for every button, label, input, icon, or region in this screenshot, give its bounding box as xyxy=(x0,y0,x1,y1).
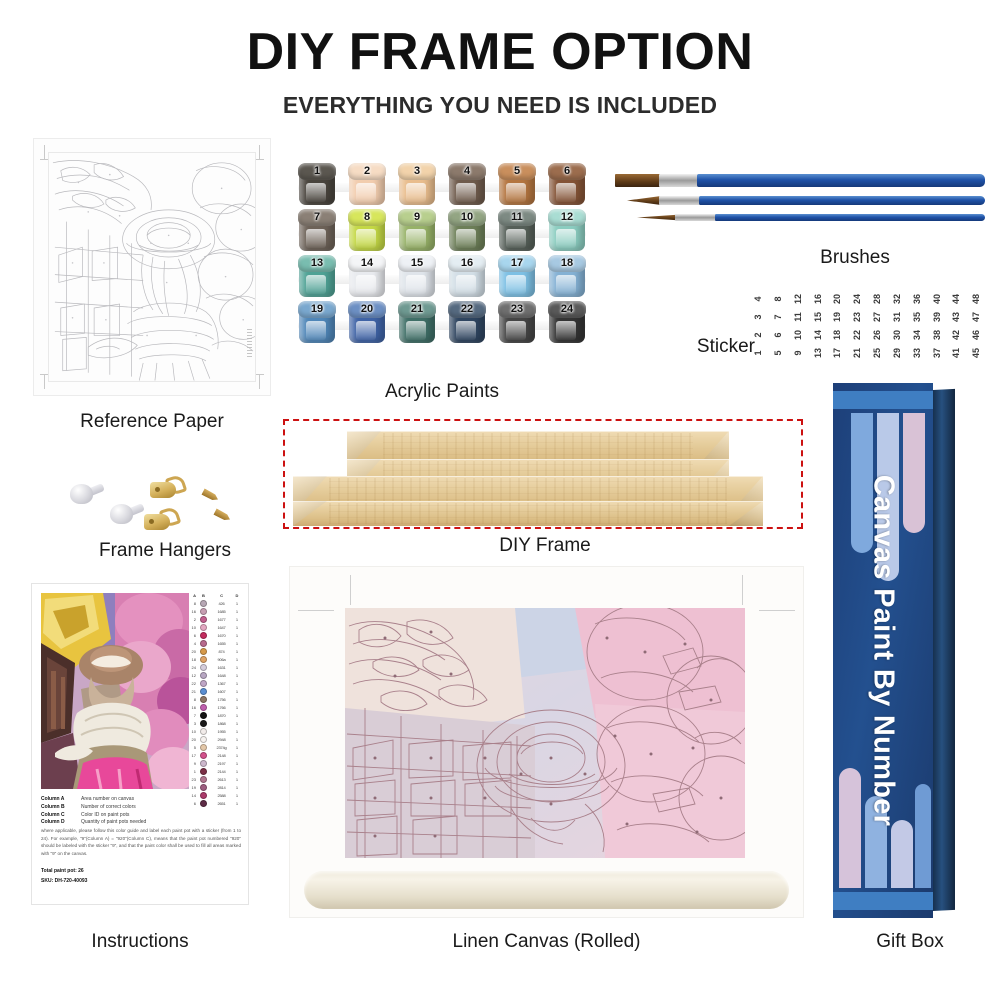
sticker-number-11: 11 xyxy=(789,307,807,327)
sticker-number-grid: 4812162024283236404448371115192327313539… xyxy=(748,290,986,362)
sticker-number-29: 29 xyxy=(888,343,906,363)
paint-pot-row: 131415161718 xyxy=(292,255,592,301)
legend-row: 121441 xyxy=(188,767,241,775)
paint-pot-gloss xyxy=(306,321,326,340)
instructions-footer: Total paint pot: 26 SKU: DH-720-40093 xyxy=(41,867,87,886)
paint-pot-22: 22 xyxy=(447,301,487,345)
frame-hangers-item xyxy=(62,470,277,540)
legend-area-number: 8 xyxy=(188,697,197,702)
legend-row: 1928141 xyxy=(188,783,241,791)
page-title: DIY FRAME OPTION xyxy=(0,26,1000,78)
paint-pot-gloss xyxy=(406,321,426,340)
legend-color-swatch xyxy=(197,736,210,743)
instruction-column-text: Quantity of paint pots needed xyxy=(81,819,146,827)
instructions-note: where applicable, please follow this col… xyxy=(41,827,241,857)
sticker-number-8: 8 xyxy=(769,289,787,309)
paint-pot-gloss xyxy=(356,183,376,202)
total-paint-pot: Total paint pot: 26 xyxy=(41,867,87,877)
paint-pot-rail xyxy=(298,229,586,238)
sticker-number-14: 14 xyxy=(808,325,826,345)
legend-color-swatch xyxy=(197,632,210,639)
legend-area-number: 1 xyxy=(188,769,197,774)
gift-box-item: Canvas Paint By Number xyxy=(833,383,955,918)
sticker-number-36: 36 xyxy=(908,289,926,309)
paint-pot-gloss xyxy=(456,275,476,294)
paint-pot-8: 8 xyxy=(347,209,387,253)
sticker-number-25: 25 xyxy=(868,343,886,363)
legend-quantity: 1 xyxy=(233,641,241,646)
legend-quantity: 1 xyxy=(233,721,241,726)
sticker-number-40: 40 xyxy=(927,289,945,309)
paint-pot-number: 15 xyxy=(397,255,437,272)
legend-area-number: 8 xyxy=(188,601,197,606)
sticker-number-45: 45 xyxy=(967,343,985,363)
paint-pot-number: 16 xyxy=(447,255,487,272)
legend-area-number: 22 xyxy=(188,681,197,686)
legend-color-code: 1685 xyxy=(210,609,233,614)
sticker-number-32: 32 xyxy=(888,289,906,309)
legend-row: 1721481 xyxy=(188,751,241,759)
legend-row: 2416311 xyxy=(188,663,241,671)
legend-row: 817561 xyxy=(188,695,241,703)
paint-pot-24: 24 xyxy=(547,301,587,345)
sticker-number-23: 23 xyxy=(848,307,866,327)
legend-row: 921971 xyxy=(188,759,241,767)
brush-flat xyxy=(615,174,985,187)
paint-pot-row: 789101112 xyxy=(292,209,592,255)
legend-color-code: 1870 xyxy=(210,713,233,718)
legend-color-swatch xyxy=(197,688,210,695)
legend-row: 1019551 xyxy=(188,727,241,735)
paint-pot-rail xyxy=(298,275,586,284)
legend-color-code: 2148 xyxy=(210,753,233,758)
paint-pot-row: 192021222324 xyxy=(292,301,592,347)
sticker-number-18: 18 xyxy=(828,325,846,345)
legend-quantity: 1 xyxy=(233,601,241,606)
paint-pot-number: 22 xyxy=(447,301,487,318)
legend-color-swatch xyxy=(197,744,210,751)
legend-area-number: 4 xyxy=(188,641,197,646)
legend-quantity: 1 xyxy=(233,769,241,774)
brushes-item xyxy=(615,170,985,240)
paint-pot-9: 9 xyxy=(397,209,437,253)
paint-pot-gloss xyxy=(306,275,326,294)
legend-color-code: 1367 xyxy=(210,681,233,686)
instruction-column-label: Column D xyxy=(41,819,81,827)
instruction-column-text: Area number on canvas xyxy=(81,796,134,804)
gift-box-label: Canvas Paint By Number xyxy=(833,383,933,918)
sticker-number-38: 38 xyxy=(927,325,945,345)
legend-quantity: 1 xyxy=(233,705,241,710)
paint-pot-gloss xyxy=(506,229,526,248)
sticker-number-26: 26 xyxy=(868,325,886,345)
caption-sticker: Sticker xyxy=(660,337,755,358)
paint-pot-5: 5 xyxy=(497,163,537,207)
legend-color-code: 1655 xyxy=(210,641,233,646)
page-subtitle: EVERYTHING YOU NEED IS INCLUDED xyxy=(0,92,1000,119)
legend-row: 1016471 xyxy=(188,623,241,631)
legend-color-code: 906a xyxy=(210,657,233,662)
legend-header-b: B xyxy=(197,593,210,598)
legend-area-number: 7 xyxy=(188,713,197,718)
legend-area-number: 16 xyxy=(188,705,197,710)
sticker-number-4: 4 xyxy=(749,289,767,309)
legend-header-d: D xyxy=(233,593,241,598)
legend-header-c: C xyxy=(210,593,233,598)
sticker-number-12: 12 xyxy=(789,289,807,309)
legend-row: 2116071 xyxy=(188,687,241,695)
legend-color-swatch xyxy=(197,768,210,775)
legend-row: 18906a1 xyxy=(188,655,241,663)
legend-color-swatch xyxy=(197,640,210,647)
sticker-sheet-item: 4812162024283236404448371115192327313539… xyxy=(748,290,986,362)
sticker-number-34: 34 xyxy=(908,325,926,345)
legend-color-code: 1766 xyxy=(210,705,233,710)
paint-pot-gloss xyxy=(356,229,376,248)
legend-color-code: 1648 xyxy=(210,673,233,678)
legend-quantity: 1 xyxy=(233,649,241,654)
paint-pot-gloss xyxy=(406,183,426,202)
legend-color-code: 1955 xyxy=(210,729,233,734)
sticker-number-39: 39 xyxy=(927,307,945,327)
instruction-column-label: Column C xyxy=(41,812,81,820)
legend-color-code: 2814 xyxy=(210,785,233,790)
legend-color-code: 1868 xyxy=(210,721,233,726)
paint-pot-number: 3 xyxy=(397,163,437,180)
paint-pot-12: 12 xyxy=(547,209,587,253)
legend-color-code: 2948 xyxy=(210,737,233,742)
paint-pot-gloss xyxy=(306,183,326,202)
legend-area-number: 3 xyxy=(188,721,197,726)
paint-pot-row: 123456 xyxy=(292,163,592,209)
legend-color-code: 2144 xyxy=(210,769,233,774)
paint-pot-gloss xyxy=(356,321,376,340)
legend-area-number: 16 xyxy=(188,609,197,614)
paint-pot-rail xyxy=(298,183,586,192)
paint-pot-4: 4 xyxy=(447,163,487,207)
legend-color-swatch xyxy=(197,720,210,727)
legend-quantity: 1 xyxy=(233,673,241,678)
legend-area-number: 19 xyxy=(188,785,197,790)
instruction-column-line: Column DQuantity of paint pots needed xyxy=(41,819,241,827)
legend-row: 2029481 xyxy=(188,735,241,743)
legend-area-number: 12 xyxy=(188,673,197,678)
paint-pot-7: 7 xyxy=(297,209,337,253)
sticker-number-6: 6 xyxy=(769,325,787,345)
legend-quantity: 1 xyxy=(233,609,241,614)
sticker-number-42: 42 xyxy=(947,325,965,345)
legend-quantity: 1 xyxy=(233,713,241,718)
sticker-number-9: 9 xyxy=(789,343,807,363)
sticker-number-33: 33 xyxy=(908,343,926,363)
sticker-number-30: 30 xyxy=(888,325,906,345)
paint-pot-number: 8 xyxy=(347,209,387,226)
legend-color-code: 1670 xyxy=(210,633,233,638)
legend-quantity: 1 xyxy=(233,737,241,742)
paint-pot-11: 11 xyxy=(497,209,537,253)
paint-pot-14: 14 xyxy=(347,255,387,299)
legend-quantity: 1 xyxy=(233,681,241,686)
legend-area-number: 20 xyxy=(188,737,197,742)
legend-color-code: 874 xyxy=(210,649,233,654)
sticker-number-7: 7 xyxy=(769,307,787,327)
paint-pot-number: 7 xyxy=(297,209,337,226)
legend-quantity: 1 xyxy=(233,625,241,630)
diy-frame-highlight-box xyxy=(283,419,803,529)
legend-color-swatch xyxy=(197,648,210,655)
paint-pot-2: 2 xyxy=(347,163,387,207)
legend-color-swatch xyxy=(197,776,210,783)
legend-area-number: 24 xyxy=(188,665,197,670)
sticker-number-10: 10 xyxy=(789,325,807,345)
brush-round-medium xyxy=(627,196,985,205)
paint-pot-number: 18 xyxy=(547,255,587,272)
sticker-number-37: 37 xyxy=(927,343,945,363)
caption-gift-box: Gift Box xyxy=(840,932,980,953)
paint-pot-gloss xyxy=(406,275,426,294)
sticker-number-46: 46 xyxy=(967,325,985,345)
sticker-number-27: 27 xyxy=(868,307,886,327)
paint-pot-gloss xyxy=(306,229,326,248)
paint-pot-gloss xyxy=(456,321,476,340)
paint-pot-number: 14 xyxy=(347,255,387,272)
legend-header-a: A xyxy=(188,593,197,598)
paint-pot-number: 17 xyxy=(497,255,537,272)
instructions-painted-preview xyxy=(41,593,189,789)
legend-row: 208741 xyxy=(188,647,241,655)
sticker-number-19: 19 xyxy=(828,307,846,327)
paint-pot-15: 15 xyxy=(397,255,437,299)
legend-color-code: 2197 xyxy=(210,761,233,766)
paint-pot-number: 20 xyxy=(347,301,387,318)
legend-quantity: 1 xyxy=(233,729,241,734)
instruction-column-label: Column B xyxy=(41,804,81,812)
paint-pot-1: 1 xyxy=(297,163,337,207)
paint-pot-17: 17 xyxy=(497,255,537,299)
sticker-number-5: 5 xyxy=(769,343,787,363)
sticker-number-31: 31 xyxy=(888,307,906,327)
legend-color-swatch xyxy=(197,600,210,607)
instruction-column-line: Column CColor ID on paint pots xyxy=(41,812,241,820)
paint-pot-number: 10 xyxy=(447,209,487,226)
legend-color-swatch xyxy=(197,624,210,631)
legend-color-code: 1677 xyxy=(210,617,233,622)
canvas-roll xyxy=(304,871,789,909)
paint-pot-number: 11 xyxy=(497,209,537,226)
legend-quantity: 1 xyxy=(233,697,241,702)
legend-row: 2213671 xyxy=(188,679,241,687)
legend-color-swatch xyxy=(197,752,210,759)
sticker-number-22: 22 xyxy=(848,325,866,345)
sticker-number-21: 21 xyxy=(848,343,866,363)
instruction-column-label: Column A xyxy=(41,796,81,804)
instructions-column-key: Column AArea number on canvasColumn BNum… xyxy=(41,796,241,827)
legend-color-code: 2374g xyxy=(210,745,233,750)
legend-rows: 8426116168512167711016471616701416551208… xyxy=(188,599,241,807)
reference-paper-item xyxy=(33,138,271,396)
legend-area-number: 17 xyxy=(188,753,197,758)
legend-row: 318681 xyxy=(188,719,241,727)
instruction-column-line: Column AArea number on canvas xyxy=(41,796,241,804)
legend-color-swatch xyxy=(197,760,210,767)
legend-quantity: 1 xyxy=(233,761,241,766)
sku-code: SKU: DH-720-40093 xyxy=(41,877,87,887)
legend-color-swatch xyxy=(197,704,210,711)
sticker-number-43: 43 xyxy=(947,307,965,327)
paint-pot-gloss xyxy=(456,229,476,248)
sticker-number-3: 3 xyxy=(749,307,767,327)
paint-pot-gloss xyxy=(456,183,476,202)
legend-quantity: 1 xyxy=(233,777,241,782)
legend-color-swatch xyxy=(197,696,210,703)
sticker-number-16: 16 xyxy=(808,289,826,309)
legend-area-number: 5 xyxy=(188,745,197,750)
paint-pot-number: 19 xyxy=(297,301,337,318)
legend-quantity: 1 xyxy=(233,753,241,758)
paint-pot-3: 3 xyxy=(397,163,437,207)
instruction-column-line: Column BNumber of correct colors xyxy=(41,804,241,812)
paint-pot-number: 2 xyxy=(347,163,387,180)
legend-color-code: 1631 xyxy=(210,665,233,670)
legend-color-code: 2613 xyxy=(210,777,233,782)
caption-brushes: Brushes xyxy=(760,248,950,269)
legend-color-swatch xyxy=(197,672,210,679)
legend-row: 1616851 xyxy=(188,607,241,615)
legend-row: 616701 xyxy=(188,631,241,639)
screw-1 xyxy=(201,488,219,502)
paint-pot-gloss xyxy=(406,229,426,248)
paint-pot-13: 13 xyxy=(297,255,337,299)
legend-area-number: 2 xyxy=(188,617,197,622)
legend-color-swatch xyxy=(197,608,210,615)
legend-quantity: 1 xyxy=(233,633,241,638)
sticker-number-28: 28 xyxy=(868,289,886,309)
legend-row: 216771 xyxy=(188,615,241,623)
infographic-root: DIY FRAME OPTION EVERYTHING YOU NEED IS … xyxy=(0,0,1000,1000)
paint-pot-gloss xyxy=(506,321,526,340)
paint-pot-10: 10 xyxy=(447,209,487,253)
paint-pot-gloss xyxy=(556,275,576,294)
paint-pot-number: 4 xyxy=(447,163,487,180)
sticker-number-44: 44 xyxy=(947,289,965,309)
paint-pot-number: 21 xyxy=(397,301,437,318)
paint-pot-23: 23 xyxy=(497,301,537,345)
legend-area-number: 18 xyxy=(188,657,197,662)
instruction-column-text: Color ID on paint pots xyxy=(81,812,129,820)
paint-pot-18: 18 xyxy=(547,255,587,299)
legend-row: 2326131 xyxy=(188,775,241,783)
acrylic-paints-item: 123456789101112131415161718192021222324 xyxy=(292,163,592,348)
caption-linen-canvas: Linen Canvas (Rolled) xyxy=(289,932,804,953)
legend-color-swatch xyxy=(197,712,210,719)
reference-paper-side-code xyxy=(247,327,252,357)
sticker-number-15: 15 xyxy=(808,307,826,327)
legend-row: 1617661 xyxy=(188,703,241,711)
legend-color-swatch xyxy=(197,680,210,687)
paint-pot-gloss xyxy=(506,275,526,294)
legend-row: 1216481 xyxy=(188,671,241,679)
sticker-number-47: 47 xyxy=(967,307,985,327)
instructions-color-legend: A B C D 84261161685121677110164716167014… xyxy=(188,593,241,792)
legend-color-swatch xyxy=(197,728,210,735)
frame-bar-bottom-2 xyxy=(293,501,763,526)
caption-acrylic-paints: Acrylic Paints xyxy=(292,382,592,403)
paint-pot-gloss xyxy=(506,183,526,202)
paint-pot-number: 24 xyxy=(547,301,587,318)
legend-color-swatch xyxy=(197,616,210,623)
paint-pot-number: 23 xyxy=(497,301,537,318)
paint-pot-number: 9 xyxy=(397,209,437,226)
legend-color-code: 1607 xyxy=(210,689,233,694)
sticker-number-20: 20 xyxy=(828,289,846,309)
paint-pot-21: 21 xyxy=(397,301,437,345)
paint-pot-number: 1 xyxy=(297,163,337,180)
legend-color-code: 426 xyxy=(210,601,233,606)
paint-pot-rail xyxy=(298,321,586,330)
gift-box-label-text: Canvas Paint By Number xyxy=(867,475,900,827)
paint-pot-gloss xyxy=(556,229,576,248)
paint-pot-gloss xyxy=(556,321,576,340)
legend-color-swatch xyxy=(197,784,210,791)
reference-line-art xyxy=(49,153,255,381)
legend-quantity: 1 xyxy=(233,665,241,670)
sticker-number-48: 48 xyxy=(967,289,985,309)
legend-color-swatch xyxy=(197,656,210,663)
linen-canvas-item xyxy=(289,566,804,918)
legend-area-number: 20 xyxy=(188,649,197,654)
legend-quantity: 1 xyxy=(233,785,241,790)
screw-2 xyxy=(213,508,231,522)
caption-instructions: Instructions xyxy=(10,932,270,953)
legend-area-number: 10 xyxy=(188,625,197,630)
sticker-number-13: 13 xyxy=(808,343,826,363)
paint-pot-number: 5 xyxy=(497,163,537,180)
legend-row: 416551 xyxy=(188,639,241,647)
legend-area-number: 10 xyxy=(188,729,197,734)
legend-area-number: 9 xyxy=(188,761,197,766)
legend-color-swatch xyxy=(197,664,210,671)
paint-pot-gloss xyxy=(556,183,576,202)
legend-quantity: 1 xyxy=(233,657,241,662)
sticker-number-17: 17 xyxy=(828,343,846,363)
paint-pot-20: 20 xyxy=(347,301,387,345)
paint-pot-6: 6 xyxy=(547,163,587,207)
paint-pot-number: 13 xyxy=(297,255,337,272)
legend-quantity: 1 xyxy=(233,745,241,750)
legend-quantity: 1 xyxy=(233,689,241,694)
paint-pot-number: 6 xyxy=(547,163,587,180)
sticker-number-24: 24 xyxy=(848,289,866,309)
paint-pot-19: 19 xyxy=(297,301,337,345)
instructions-item: A B C D 84261161685121677110164716167014… xyxy=(31,583,249,905)
legend-area-number: 6 xyxy=(188,633,197,638)
sticker-number-41: 41 xyxy=(947,343,965,363)
caption-diy-frame: DIY Frame xyxy=(380,536,710,557)
caption-reference-paper: Reference Paper xyxy=(33,412,271,433)
instruction-column-text: Number of correct colors xyxy=(81,804,136,812)
reference-paper-artwork xyxy=(48,152,256,382)
canvas-printed-outline xyxy=(345,608,745,858)
gift-box-front-panel: Canvas Paint By Number xyxy=(833,383,933,918)
legend-row: 84261 xyxy=(188,599,241,607)
legend-quantity: 1 xyxy=(233,617,241,622)
gift-box-side-panel xyxy=(933,389,955,911)
sticker-number-35: 35 xyxy=(908,307,926,327)
legend-row: 52374g1 xyxy=(188,743,241,751)
brush-round-fine xyxy=(637,214,985,221)
paint-pot-number: 12 xyxy=(547,209,587,226)
paint-pot-16: 16 xyxy=(447,255,487,299)
